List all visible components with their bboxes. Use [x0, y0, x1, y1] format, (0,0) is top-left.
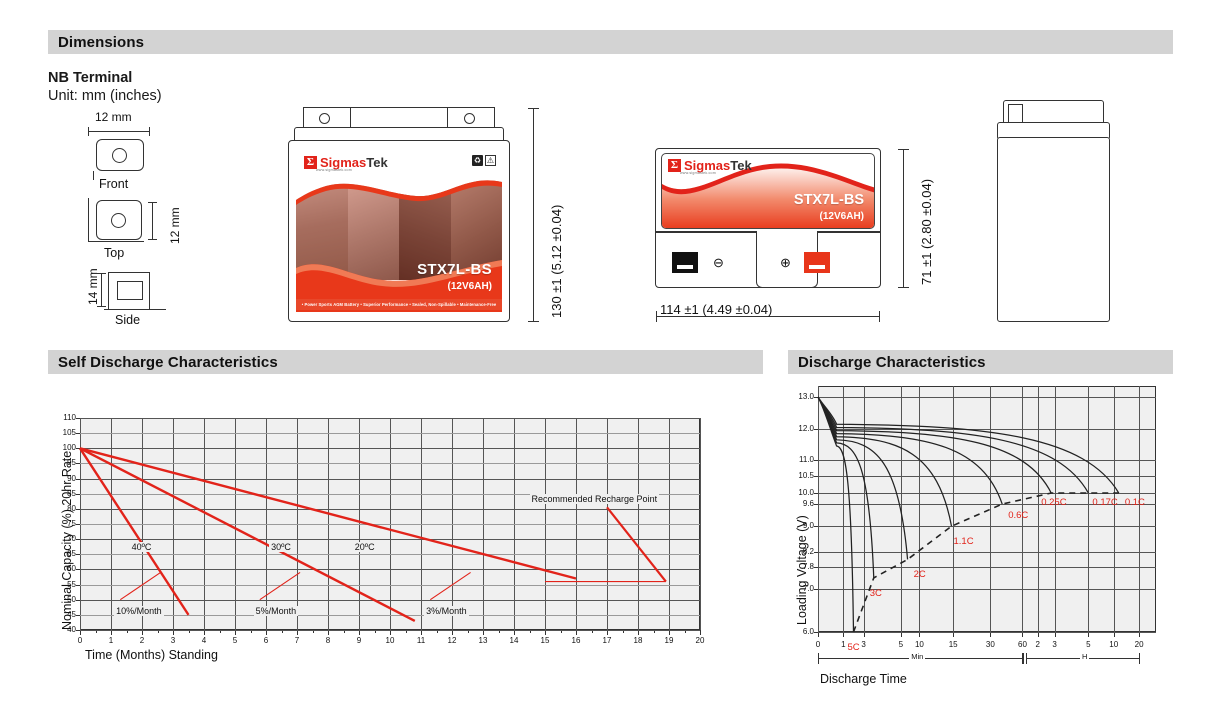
- self-gridline-h: [80, 630, 700, 631]
- discharge-y-tick-label: 6.0: [786, 627, 814, 636]
- discharge-x-tick-label: 10: [1102, 640, 1126, 649]
- positive-terminal-slot: [809, 265, 825, 269]
- self-gridline-h: [80, 433, 700, 434]
- self-x-tick-label: 5: [223, 636, 247, 645]
- hours-range-start-tick: [1026, 653, 1027, 664]
- self-y-tick-label: 95: [50, 458, 76, 467]
- terminal-top-label: Top: [104, 246, 124, 260]
- discharge-x-tick-label: 0: [806, 640, 830, 649]
- self-y-tickmark: [76, 554, 80, 555]
- self-y-tick-label: 100: [50, 443, 76, 452]
- top-terminal-hole: [111, 213, 126, 228]
- front-height-arrow: [533, 108, 534, 322]
- label-wave-top: [296, 172, 502, 212]
- self-x-tick-label: 11: [409, 636, 433, 645]
- discharge-gridline-v: [919, 386, 920, 632]
- discharge-x-tick-label: 15: [941, 640, 965, 649]
- self-y-tick-label: 90: [50, 474, 76, 483]
- top-height-arrow: [903, 149, 904, 288]
- self-annotation-recommendedrechargepoint: Recommended Recharge Point: [530, 494, 660, 504]
- top-capacity: (12V6AH): [820, 211, 864, 222]
- top-height-tick-top: [898, 149, 909, 150]
- top-dim-tick-upper: [148, 202, 157, 203]
- section-header-discharge: Discharge Characteristics: [788, 350, 1173, 374]
- self-y-tickmark: [76, 524, 80, 525]
- front-leader-line: [93, 171, 94, 180]
- section-header-dimensions: Dimensions: [48, 30, 1173, 54]
- hours-range-end-tick: [1139, 653, 1140, 664]
- self-gridline-h: [80, 509, 700, 510]
- discharge-y-tickmark: [814, 567, 818, 568]
- discharge-y-tickmark: [814, 460, 818, 461]
- top-brand-url: www.sigmastek.com: [680, 171, 716, 175]
- self-x-tick-label: 4: [192, 636, 216, 645]
- discharge-gridline-v: [864, 386, 865, 632]
- side-terminal-inner: [117, 281, 143, 300]
- self-discharge-x-axis-title: Time (Months) Standing: [85, 648, 218, 662]
- discharge-y-tickmark: [814, 429, 818, 430]
- self-gridline-h: [80, 554, 700, 555]
- self-annotation-20c: 20ºC: [353, 542, 377, 552]
- discharge-x-tick-label: 5: [1076, 640, 1100, 649]
- self-gridline-h: [80, 539, 700, 540]
- front-terminal-hole: [112, 148, 127, 163]
- self-x-tickmark: [700, 630, 701, 635]
- discharge-gridline-v: [1022, 386, 1023, 632]
- discharge-y-tick-label: 8.2: [786, 547, 814, 556]
- top-leader-horz: [88, 241, 144, 242]
- self-annotation-30c: 30ºC: [269, 542, 293, 552]
- eco-icon-group: ♻ ⚠: [472, 155, 496, 166]
- negative-terminal-pad: [672, 252, 698, 273]
- self-y-tickmark: [76, 433, 80, 434]
- self-y-tick-label: 110: [50, 413, 76, 422]
- minutes-range-label: Min: [909, 652, 925, 661]
- caution-icon: ⚠: [485, 155, 496, 166]
- discharge-rate-label-5C: 5C: [847, 642, 859, 653]
- top-width-dim: 114 ±1 (4.49 ±0.04): [660, 302, 772, 317]
- front-dim-tick-left: [88, 127, 89, 136]
- self-y-tick-label: 45: [50, 610, 76, 619]
- negative-polarity-icon: ⊖: [713, 256, 724, 269]
- self-x-tick-label: 14: [502, 636, 526, 645]
- self-gridline-h: [80, 615, 700, 616]
- self-annotation-40c: 40ºC: [130, 542, 154, 552]
- discharge-y-tickmark: [814, 476, 818, 477]
- self-y-tickmark: [76, 585, 80, 586]
- discharge-x-axis-title: Discharge Time: [820, 672, 907, 686]
- self-y-tick-label: 70: [50, 534, 76, 543]
- brand-name-part2: Tek: [366, 155, 387, 170]
- discharge-gridline-v: [953, 386, 954, 632]
- self-y-tick-label: 105: [50, 428, 76, 437]
- self-gridline-h: [80, 463, 700, 464]
- discharge-y-tickmark: [814, 589, 818, 590]
- section-title-dimensions: Dimensions: [58, 34, 144, 51]
- discharge-y-tick-label: 13.0: [786, 392, 814, 401]
- discharge-gridline-h: [818, 526, 1156, 527]
- self-x-tick-label: 7: [285, 636, 309, 645]
- side-view-terminal-nub: [1008, 104, 1023, 124]
- minutes-range-start-tick: [818, 653, 819, 664]
- discharge-gridline-h: [818, 632, 1156, 633]
- hours-range-label: H: [1080, 652, 1089, 661]
- self-y-tick-label: 40: [50, 625, 76, 634]
- minutes-range-end-tick: [1022, 653, 1023, 664]
- self-y-tick-label: 50: [50, 595, 76, 604]
- front-height-tick-top: [528, 108, 539, 109]
- self-y-tick-label: 75: [50, 519, 76, 528]
- top-dim-tick-lower: [148, 239, 157, 240]
- self-x-tick-label: 9: [347, 636, 371, 645]
- terminal-side-label: Side: [115, 313, 140, 327]
- discharge-y-tickmark: [814, 526, 818, 527]
- self-y-tickmark: [76, 615, 80, 616]
- discharge-y-tick-label: 11.0: [786, 455, 814, 464]
- self-y-tickmark: [76, 539, 80, 540]
- top-leader-vert: [88, 198, 89, 242]
- self-gridline-v: [700, 418, 701, 630]
- discharge-y-tick-label: 9.0: [786, 521, 814, 530]
- self-annotation-3month: 3%/Month: [424, 606, 469, 616]
- top-dim-arrow-line: [152, 202, 153, 240]
- side-dim-tick-lower: [97, 306, 106, 307]
- battery-front-label: Σ SigmasTek www.sigmastek.com ♻ ⚠ STX7L-…: [296, 150, 502, 312]
- discharge-x-tick-label: 30: [978, 640, 1002, 649]
- self-y-tick-label: 80: [50, 504, 76, 513]
- terminal-type-label: NB Terminal: [48, 70, 132, 86]
- self-gridline-h: [80, 524, 700, 525]
- self-y-tickmark: [76, 448, 80, 449]
- self-y-tick-label: 65: [50, 549, 76, 558]
- positive-polarity-icon: ⊕: [780, 256, 791, 269]
- discharge-y-tick-label: 7.8: [786, 562, 814, 571]
- discharge-gridline-v: [990, 386, 991, 632]
- self-gridline-h: [80, 418, 700, 419]
- self-gridline-h: [80, 569, 700, 570]
- top-model-name: STX7L-BS: [794, 192, 864, 208]
- top-height-tick-bottom: [898, 287, 909, 288]
- self-x-tick-label: 12: [440, 636, 464, 645]
- discharge-rate-label-0_17C: 0.17C: [1092, 497, 1117, 508]
- discharge-rate-label-2C: 2C: [914, 569, 926, 580]
- terminal-front-dim: 12 mm: [95, 110, 132, 124]
- self-y-tick-label: 85: [50, 489, 76, 498]
- discharge-gridline-h: [818, 552, 1156, 553]
- self-x-tick-label: 1: [99, 636, 123, 645]
- front-dim-arrow-line: [88, 131, 150, 132]
- discharge-y-tickmark: [814, 632, 818, 633]
- discharge-gridline-h: [818, 493, 1156, 494]
- self-x-tick-label: 15: [533, 636, 557, 645]
- discharge-gridline-v: [843, 386, 844, 632]
- self-y-tick-label: 60: [50, 564, 76, 573]
- discharge-x-tick-label: 20: [1127, 640, 1151, 649]
- self-y-tickmark: [76, 600, 80, 601]
- discharge-gridline-v: [1038, 386, 1039, 632]
- discharge-gridline-h: [818, 567, 1156, 568]
- self-x-tick-label: 17: [595, 636, 619, 645]
- negative-terminal-slot: [677, 265, 693, 269]
- self-y-tickmark: [76, 463, 80, 464]
- discharge-rate-label-0_25C: 0.25C: [1041, 497, 1066, 508]
- self-x-tick-label: 2: [130, 636, 154, 645]
- discharge-y-tick-label: 9.6: [786, 499, 814, 508]
- spec-sheet-page: Dimensions NB Terminal Unit: mm (inches)…: [0, 0, 1221, 703]
- self-gridline-h: [80, 448, 700, 449]
- discharge-rate-label-0_6C: 0.6C: [1008, 510, 1028, 521]
- discharge-gridline-h: [818, 460, 1156, 461]
- terminal-top-dim: 12 mm: [168, 207, 182, 244]
- self-y-tick-label: 55: [50, 580, 76, 589]
- side-view-body: [997, 137, 1110, 322]
- discharge-y-tickmark: [814, 504, 818, 505]
- self-y-tickmark: [76, 418, 80, 419]
- discharge-rate-label-0_1C: 0.1C: [1125, 497, 1145, 508]
- discharge-x-tick-label: 10: [907, 640, 931, 649]
- self-x-tick-label: 18: [626, 636, 650, 645]
- discharge-gridline-v: [1139, 386, 1140, 632]
- discharge-y-tick-label: 12.0: [786, 424, 814, 433]
- self-y-tickmark: [76, 569, 80, 570]
- battery-top-label: Σ SigmasTek www.sigmastek.com STX7L-BS (…: [661, 153, 875, 229]
- self-x-tick-label: 19: [657, 636, 681, 645]
- self-y-tickmark: [76, 509, 80, 510]
- self-y-tickmark: [76, 494, 80, 495]
- top-width-tick-right: [879, 311, 880, 322]
- discharge-y-tick-label: 7.0: [786, 584, 814, 593]
- front-terminal-left-hole: [319, 113, 330, 124]
- self-x-tick-label: 0: [68, 636, 92, 645]
- self-annotation-10month: 10%/Month: [114, 606, 164, 616]
- top-brand-part2: Tek: [730, 158, 751, 173]
- discharge-gridline-v: [1055, 386, 1056, 632]
- self-gridline-h: [80, 585, 700, 586]
- self-x-tick-label: 6: [254, 636, 278, 645]
- discharge-y-tickmark: [814, 397, 818, 398]
- section-title-discharge: Discharge Characteristics: [798, 354, 986, 371]
- discharge-y-tick-label: 10.5: [786, 471, 814, 480]
- discharge-rate-label-3C: 3C: [870, 588, 882, 599]
- front-capacity: (12V6AH): [448, 281, 492, 292]
- self-x-tick-label: 8: [316, 636, 340, 645]
- unit-note-label: Unit: mm (inches): [48, 88, 162, 104]
- front-feature-bar: • Power Sports AGM Battery • Superior Pe…: [296, 299, 502, 310]
- top-height-dim: 71 ±1 (2.80 ±0.04): [919, 179, 934, 285]
- discharge-gridline-v: [901, 386, 902, 632]
- section-header-self-discharge: Self Discharge Characteristics: [48, 350, 763, 374]
- recycle-icon: ♻: [472, 155, 483, 166]
- side-dim-arrow-line: [101, 273, 102, 307]
- positive-terminal-pad: [804, 252, 830, 273]
- front-height-tick-bottom: [528, 321, 539, 322]
- discharge-gridline-v: [1088, 386, 1089, 632]
- discharge-y-tick-label: 10.0: [786, 488, 814, 497]
- discharge-gridline-v: [1114, 386, 1115, 632]
- front-terminal-right-hole: [464, 113, 475, 124]
- self-y-tickmark: [76, 479, 80, 480]
- section-title-self-discharge: Self Discharge Characteristics: [58, 354, 278, 371]
- discharge-gridline-h: [818, 476, 1156, 477]
- self-annotation-5month: 5%/Month: [254, 606, 299, 616]
- front-dim-tick-right: [149, 127, 150, 136]
- discharge-y-tickmark: [814, 552, 818, 553]
- self-x-tick-label: 10: [378, 636, 402, 645]
- self-y-tickmark: [76, 630, 80, 631]
- front-height-dim: 130 ±1 (5.12 ±0.04): [549, 205, 564, 318]
- self-x-tick-label: 20: [688, 636, 712, 645]
- terminal-front-label: Front: [99, 177, 128, 191]
- discharge-rate-label-1_1C: 1.1C: [954, 536, 974, 547]
- top-width-tick-left: [656, 311, 657, 322]
- side-leader-horz: [104, 309, 166, 310]
- brand-url: www.sigmastek.com: [316, 168, 352, 172]
- self-gridline-h: [80, 600, 700, 601]
- discharge-x-tick-label: 3: [1043, 640, 1067, 649]
- side-dim-tick-upper: [97, 273, 106, 274]
- discharge-gridline-h: [818, 397, 1156, 398]
- self-x-tick-label: 16: [564, 636, 588, 645]
- discharge-gridline-v: [818, 386, 819, 632]
- discharge-gridline-h: [818, 589, 1156, 590]
- discharge-plot-area: [818, 386, 1156, 632]
- discharge-y-tickmark: [814, 493, 818, 494]
- self-x-tick-label: 13: [471, 636, 495, 645]
- front-model-name: STX7L-BS: [417, 261, 492, 278]
- discharge-gridline-h: [818, 429, 1156, 430]
- self-gridline-h: [80, 479, 700, 480]
- self-x-tick-label: 3: [161, 636, 185, 645]
